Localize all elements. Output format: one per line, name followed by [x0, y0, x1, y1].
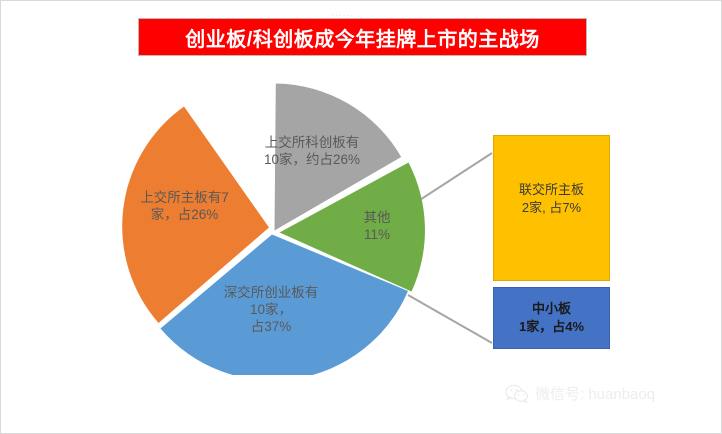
callout-box-sme-board: 中小板 1家，占4%	[493, 287, 610, 349]
callout-label-sme-board: 中小板 1家，占4%	[519, 300, 584, 336]
pie-label-shenzhen-growth: 深交所创业板有 10家， 占37%	[191, 284, 351, 335]
watermark-text: 微信号: huanbaoq	[535, 383, 655, 404]
pie-label-shanghai-main: 上交所主板有7 家，占26%	[117, 189, 252, 223]
pie-label-shanghai-star: 上交所科创板有 10家，约占26%	[237, 134, 387, 168]
watermark: 微信号: huanbaoq	[505, 383, 655, 404]
pie-chart-figure: …… 创业板/科创板成今年挂牌上市的主战场 上交所科创板有 10家，约占26% …	[0, 0, 722, 434]
pie-label-other: 其他 11%	[347, 209, 407, 243]
callout-label-hkex-main: 联交所主板 2家, 占7%	[519, 181, 584, 217]
wechat-icon	[505, 384, 529, 404]
callout-box-hkex-main: 联交所主板 2家, 占7%	[493, 135, 610, 281]
pie-graphic: 上交所科创板有 10家，约占26% 上交所主板有7 家，占26% 深交所创业板有…	[119, 79, 425, 375]
